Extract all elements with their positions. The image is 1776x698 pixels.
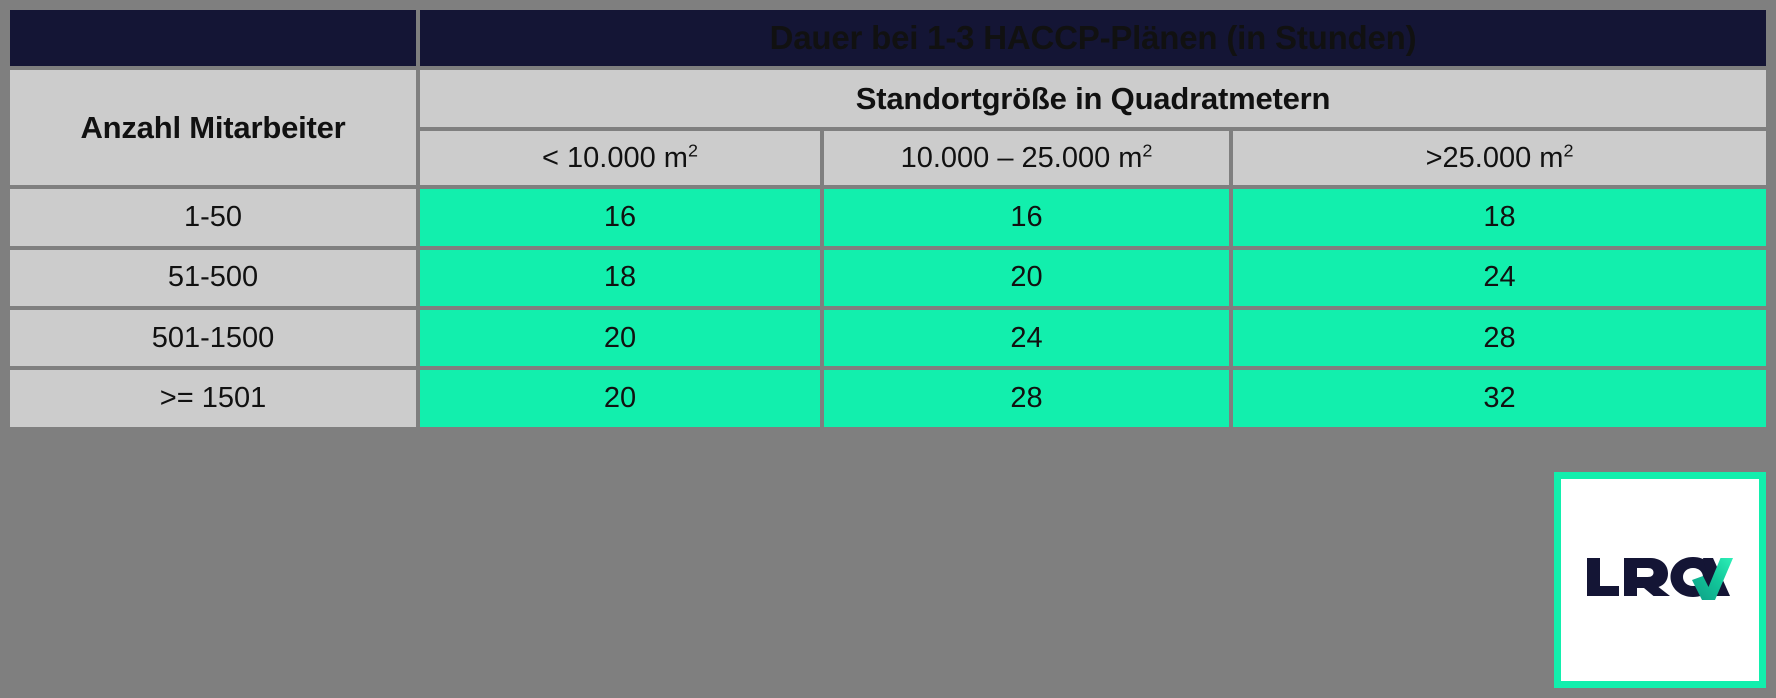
row-axis-header: Anzahl Mitarbeiter <box>10 70 416 185</box>
cell-r3-c1: 28 <box>824 370 1229 427</box>
column-header-2: >25.000 m2 <box>1233 131 1766 185</box>
haccp-duration-table: Dauer bei 1-3 HACCP-Plänen (in Stunden) … <box>10 10 1766 435</box>
column-header-1-text: 10.000 – 25.000 m <box>901 142 1143 174</box>
table: Dauer bei 1-3 HACCP-Plänen (in Stunden) … <box>6 6 1770 431</box>
page-canvas: Dauer bei 1-3 HACCP-Plänen (in Stunden) … <box>0 0 1776 698</box>
cell-r3-c2: 32 <box>1233 370 1766 427</box>
cell-r0-c0: 16 <box>420 189 820 245</box>
table-title: Dauer bei 1-3 HACCP-Plänen (in Stunden) <box>420 10 1766 66</box>
table-row: 1-50 16 16 18 <box>10 189 1766 245</box>
table-title-row: Dauer bei 1-3 HACCP-Plänen (in Stunden) <box>10 10 1766 66</box>
lrqa-logo-card <box>1554 472 1766 688</box>
row-label-1: 51-500 <box>10 250 416 306</box>
cell-r2-c1: 24 <box>824 310 1229 366</box>
cell-r2-c0: 20 <box>420 310 820 366</box>
column-header-0: < 10.000 m2 <box>420 131 820 185</box>
row-label-3: >= 1501 <box>10 370 416 427</box>
cell-r3-c0: 20 <box>420 370 820 427</box>
lrqa-logo-icon <box>1585 554 1735 606</box>
title-row-spacer <box>10 10 416 66</box>
group-header-standortgroesse: Standortgröße in Quadratmetern <box>420 70 1766 126</box>
cell-r2-c2: 28 <box>1233 310 1766 366</box>
row-label-0: 1-50 <box>10 189 416 245</box>
cell-r0-c2: 18 <box>1233 189 1766 245</box>
table-row: 51-500 18 20 24 <box>10 250 1766 306</box>
table-row: 501-1500 20 24 28 <box>10 310 1766 366</box>
cell-r1-c1: 20 <box>824 250 1229 306</box>
row-label-2: 501-1500 <box>10 310 416 366</box>
cell-r1-c0: 18 <box>420 250 820 306</box>
table-row: >= 1501 20 28 32 <box>10 370 1766 427</box>
column-header-0-superscript: 2 <box>688 140 698 160</box>
column-header-1: 10.000 – 25.000 m2 <box>824 131 1229 185</box>
column-header-1-superscript: 2 <box>1142 140 1152 160</box>
cell-r0-c1: 16 <box>824 189 1229 245</box>
cell-r1-c2: 24 <box>1233 250 1766 306</box>
column-header-2-text: >25.000 m <box>1426 142 1564 174</box>
column-header-2-superscript: 2 <box>1563 140 1573 160</box>
column-header-0-text: < 10.000 m <box>542 142 688 174</box>
group-header-row: Anzahl Mitarbeiter Standortgröße in Quad… <box>10 70 1766 126</box>
